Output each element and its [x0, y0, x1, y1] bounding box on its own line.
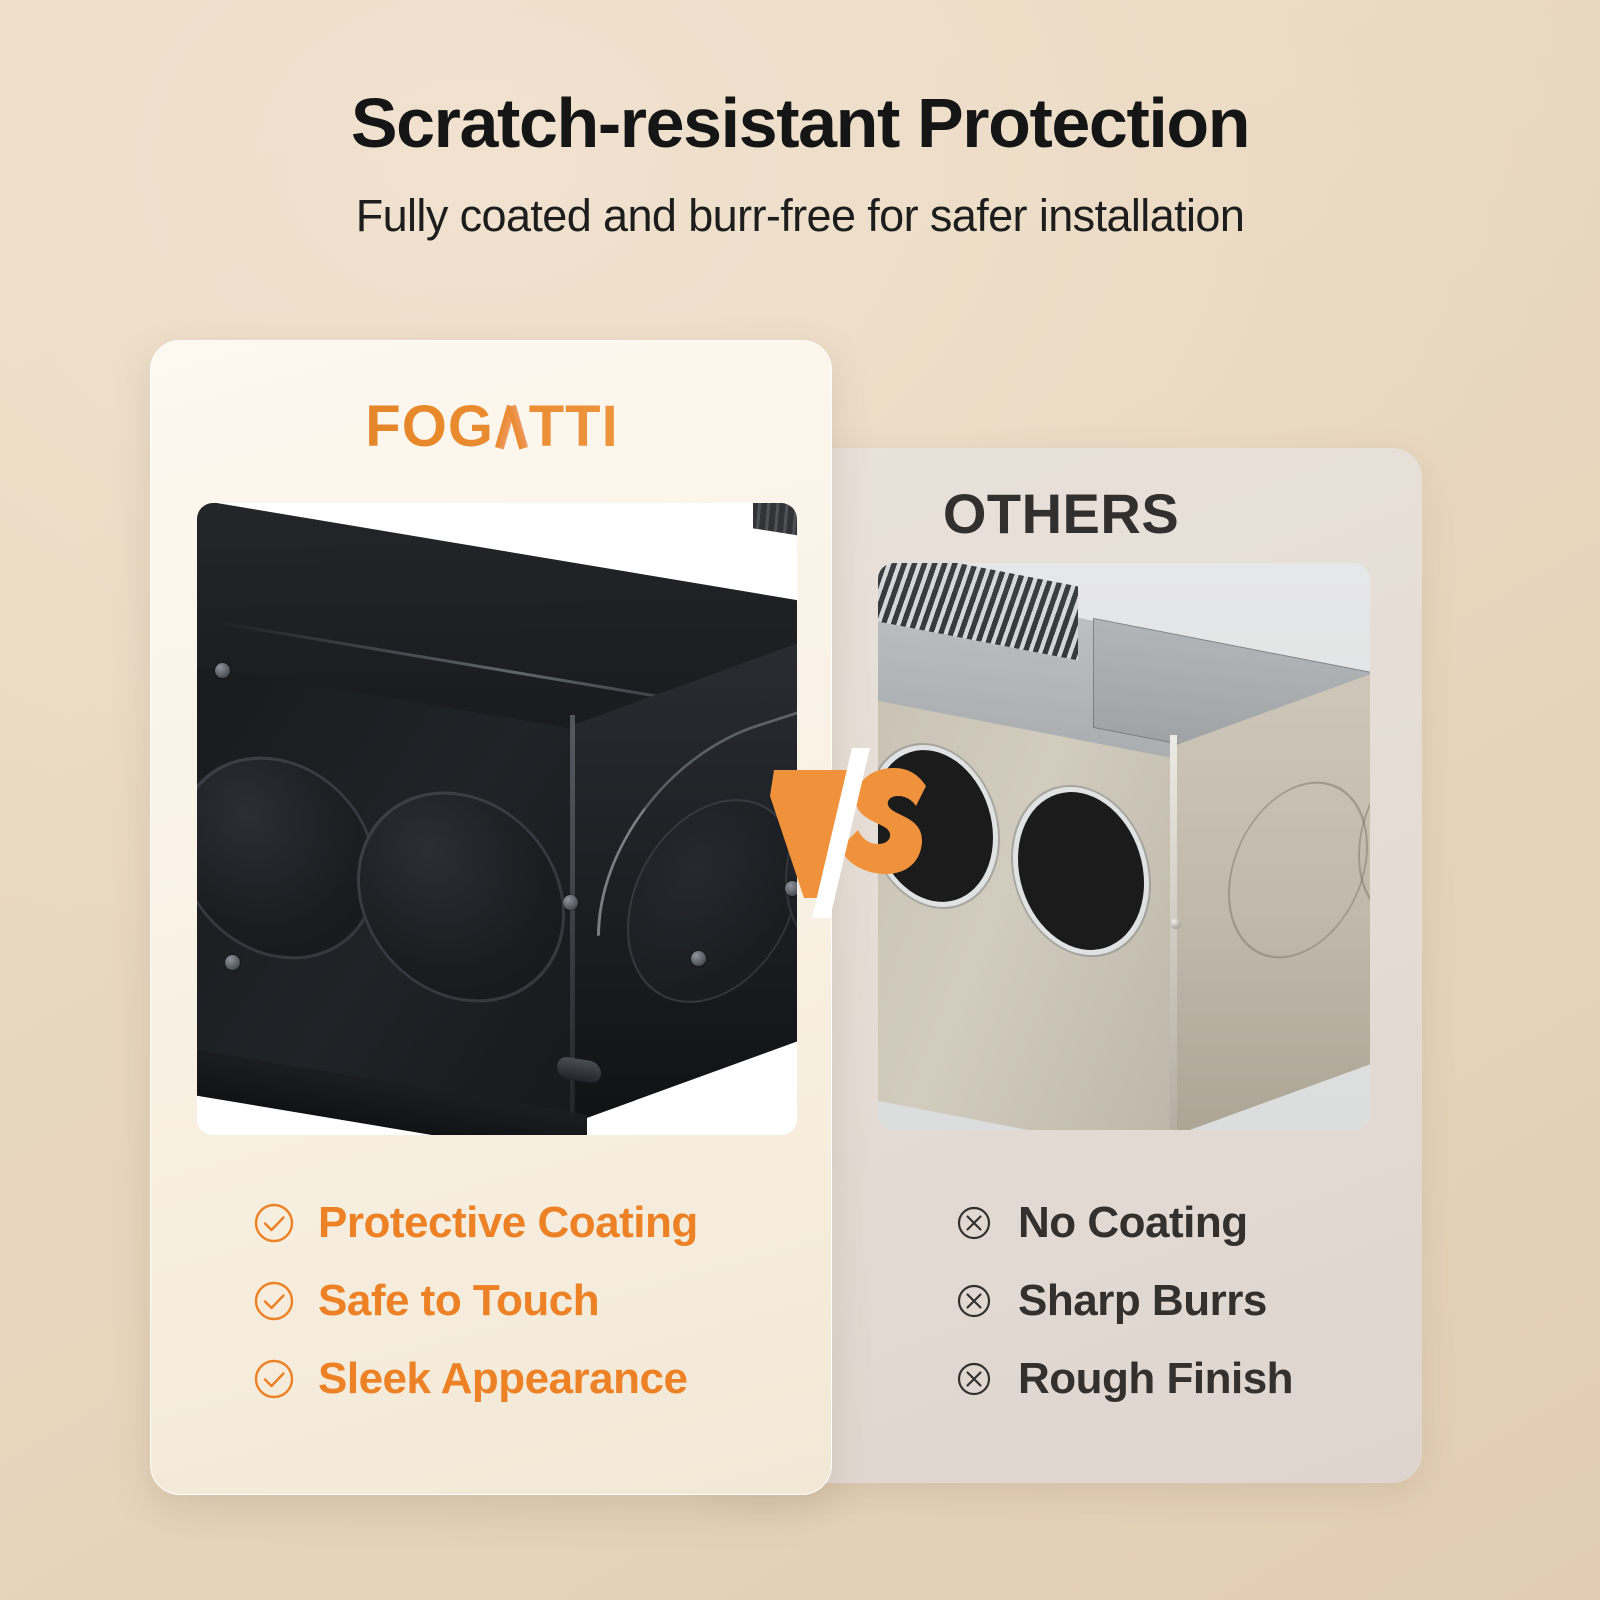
- check-circle-icon: [252, 1357, 296, 1401]
- list-item: Protective Coating: [252, 1184, 772, 1262]
- others-product-image: [878, 563, 1370, 1130]
- list-item: Sharp Burrs: [952, 1262, 1382, 1340]
- list-item: Safe to Touch: [252, 1262, 772, 1340]
- feature-label: Sharp Burrs: [1018, 1276, 1267, 1326]
- logo-letter-o: O: [402, 394, 448, 459]
- metal-screw: [1170, 918, 1181, 929]
- others-feature-list: No Coating Sharp Burrs Rough Finish: [952, 1184, 1382, 1418]
- logo-letter-t2: T: [565, 394, 601, 459]
- black-screw-3: [225, 955, 240, 970]
- black-vent-grille: [753, 503, 797, 554]
- black-screw-1: [215, 663, 230, 678]
- fogatti-feature-list: Protective Coating Safe to Touch Sleek A…: [252, 1184, 772, 1418]
- list-item: Sleek Appearance: [252, 1340, 772, 1418]
- logo-letter-g: G: [448, 394, 494, 459]
- x-circle-icon: [952, 1201, 996, 1245]
- feature-label: Rough Finish: [1018, 1354, 1293, 1404]
- feature-label: Protective Coating: [318, 1198, 698, 1248]
- infographic-root: Scratch-resistant Protection Fully coate…: [0, 0, 1600, 1600]
- check-circle-icon: [252, 1201, 296, 1245]
- logo-letter-a-triangle-icon: [494, 405, 529, 447]
- check-circle-icon: [252, 1279, 296, 1323]
- black-coated-enclosure-illustration: [197, 503, 797, 1135]
- list-item: Rough Finish: [952, 1340, 1382, 1418]
- metal-raw-burr-edge: [1170, 735, 1177, 1130]
- logo-letter-t1: T: [529, 394, 565, 459]
- black-screw-5: [785, 881, 797, 896]
- fogatti-product-image: [197, 503, 797, 1135]
- list-item: No Coating: [952, 1184, 1382, 1262]
- x-circle-icon: [952, 1357, 996, 1401]
- black-screw-4: [691, 951, 706, 966]
- fogatti-brand-logo: FOGTTI: [151, 393, 833, 460]
- page-title: Scratch-resistant Protection: [0, 86, 1600, 160]
- feature-label: Safe to Touch: [318, 1276, 599, 1326]
- page-subtitle: Fully coated and burr-free for safer ins…: [0, 190, 1600, 242]
- logo-letter-i: I: [602, 394, 619, 459]
- feature-label: Sleek Appearance: [318, 1354, 687, 1404]
- feature-label: No Coating: [1018, 1198, 1248, 1248]
- bare-metal-enclosure-illustration: [878, 563, 1370, 1130]
- black-screw-2: [563, 895, 578, 910]
- logo-letter-f: F: [365, 394, 401, 459]
- x-circle-icon: [952, 1279, 996, 1323]
